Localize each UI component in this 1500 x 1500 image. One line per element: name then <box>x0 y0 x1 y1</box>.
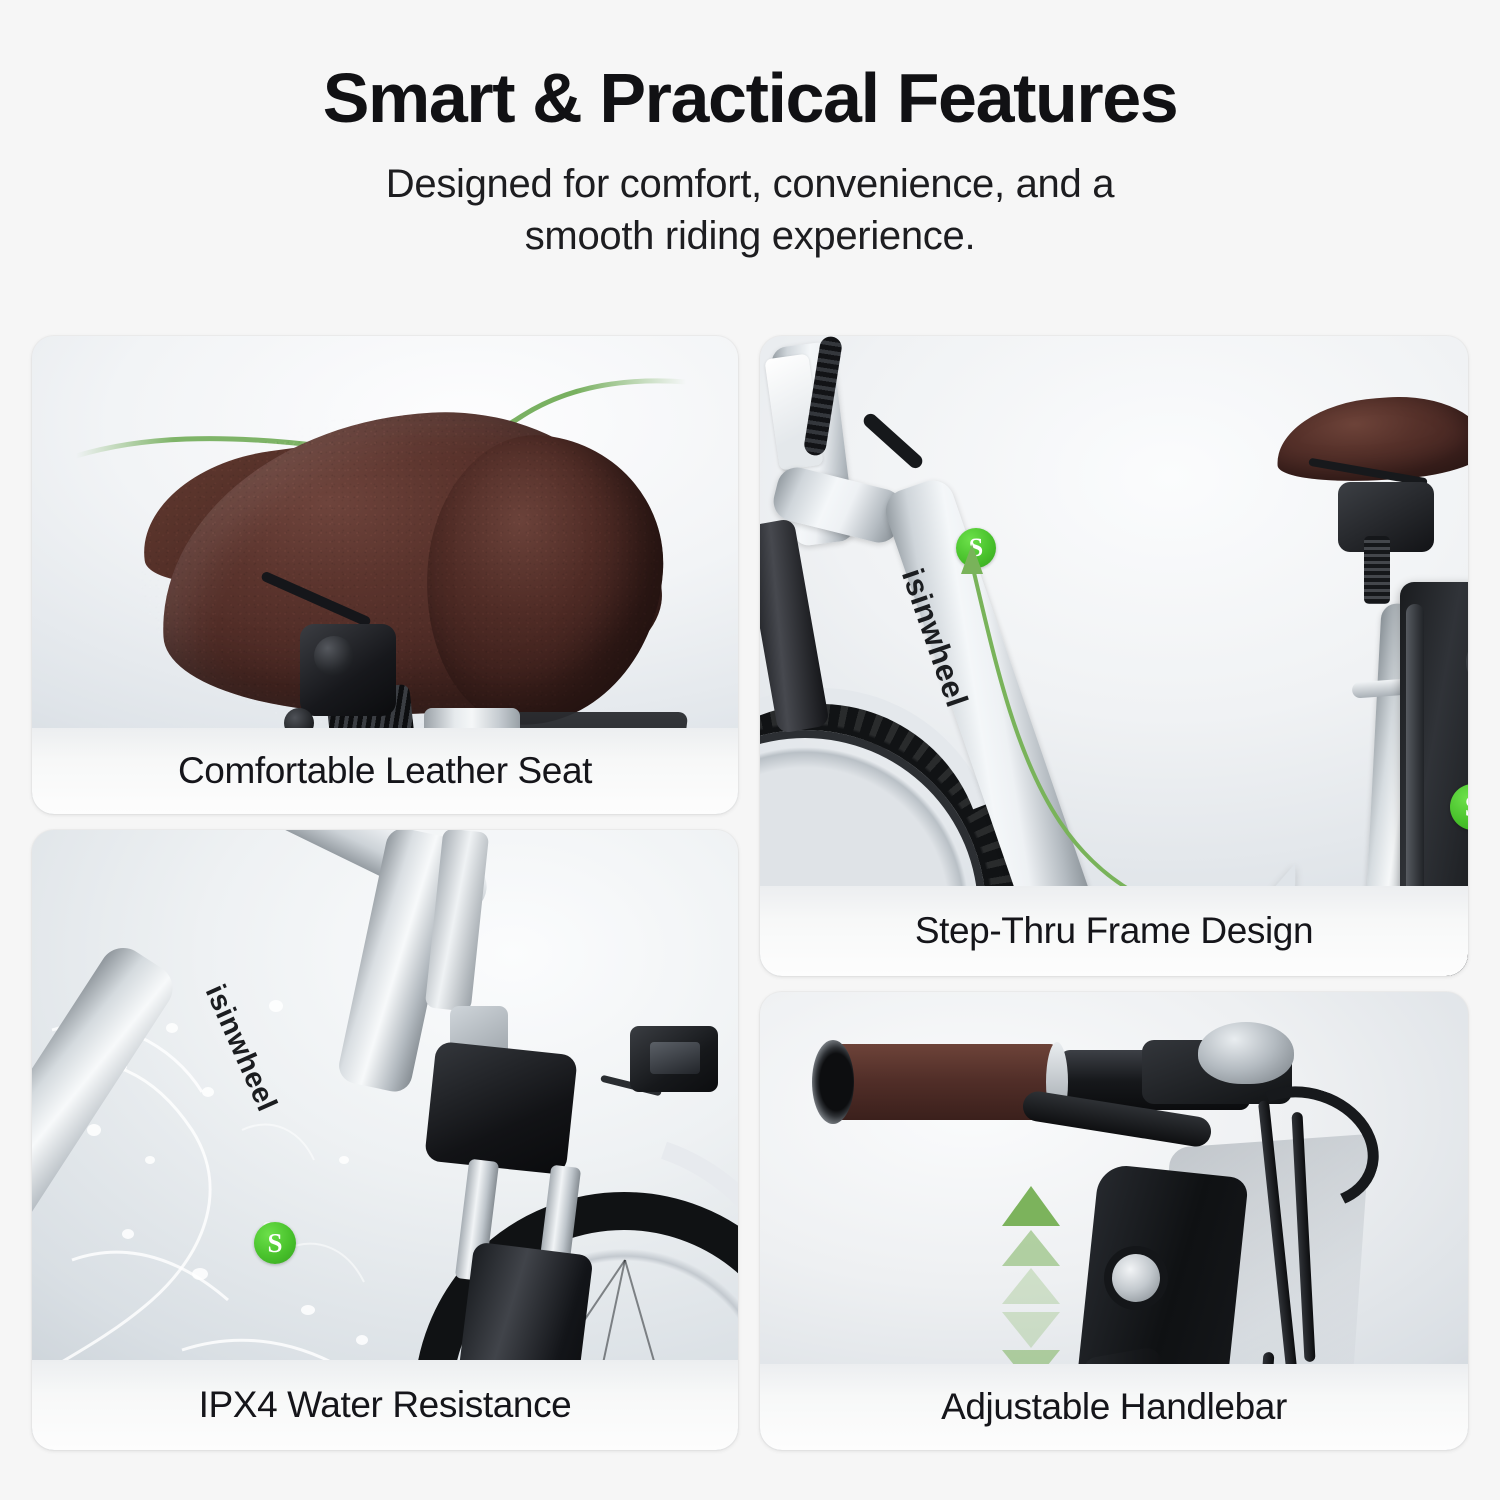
feature-caption: Step-Thru Frame Design <box>760 886 1468 976</box>
feature-caption: Comfortable Leather Seat <box>32 728 738 814</box>
feature-infographic: Smart & Practical Features Designed for … <box>0 0 1500 1500</box>
fork-crown <box>424 1041 578 1175</box>
feature-card-comfortable-leather-seat[interactable]: Comfortable Leather Seat <box>32 336 738 814</box>
saddle-clamp-knob <box>314 636 354 676</box>
bell[interactable] <box>1198 1022 1294 1084</box>
grip-end-cap <box>812 1040 854 1124</box>
stem-pivot-bolt <box>1112 1254 1160 1302</box>
seat-post-screw <box>1364 536 1390 604</box>
feature-card-adjustable-handlebar[interactable]: Adjustable Handlebar <box>760 992 1468 1450</box>
isinwheel-logo-icon: S <box>956 528 996 568</box>
water-photo: isinwheel S <box>32 830 738 1450</box>
frame-photo: isinwheel S S <box>760 336 1468 976</box>
feature-card-ipx4-water-resistance[interactable]: isinwheel S IPX4 Water Resistance <box>32 830 738 1450</box>
feature-card-grid: Comfortable Leather Seat isinwheel S <box>0 0 1500 1500</box>
feature-card-step-thru-frame-design[interactable]: isinwheel S S Step <box>760 336 1468 976</box>
feature-caption: Adjustable Handlebar <box>760 1364 1468 1450</box>
headlight-lens <box>650 1042 700 1074</box>
feature-caption: IPX4 Water Resistance <box>32 1360 738 1450</box>
isinwheel-logo-icon: S <box>254 1222 296 1264</box>
